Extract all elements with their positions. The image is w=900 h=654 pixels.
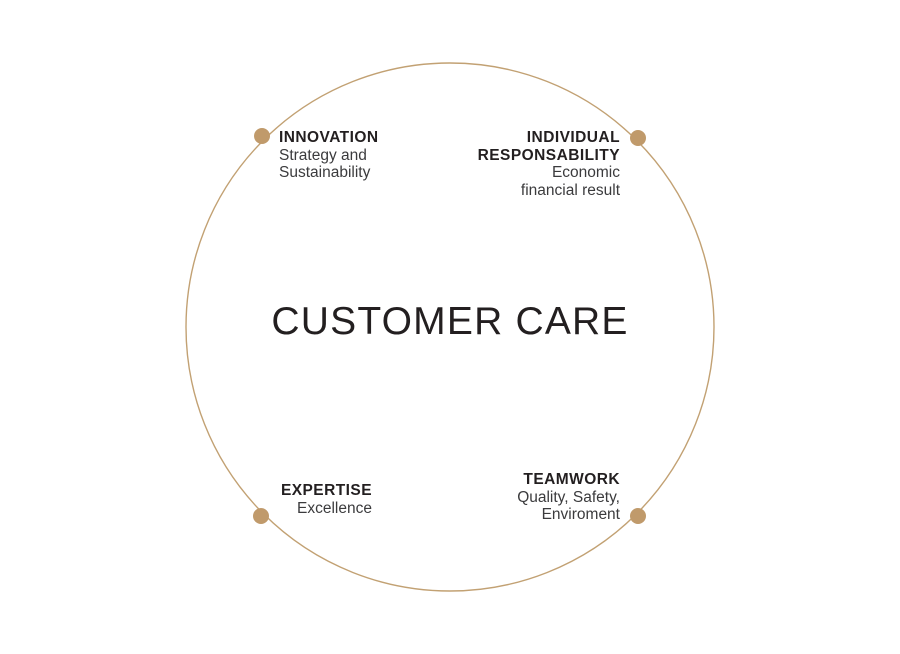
customer-care-diagram: CUSTOMER CARE INNOVATION Strategy and Su… [0, 0, 900, 654]
node-title-expertise: EXPERTISE [180, 482, 372, 500]
node-label-individual-responsability[interactable]: INDIVIDUAL RESPONSABILITY Economic finan… [380, 129, 620, 199]
node-title-teamwork: TEAMWORK [400, 471, 620, 489]
node-label-teamwork[interactable]: TEAMWORK Quality, Safety, Enviroment [400, 471, 620, 524]
node-subtitle-individual-responsability-line-2: financial result [380, 182, 620, 200]
node-dot-innovation[interactable] [254, 128, 270, 144]
center-title: CUSTOMER CARE [0, 297, 900, 347]
node-subtitle-teamwork-line-1: Quality, Safety, [400, 489, 620, 507]
node-dot-individual-responsability[interactable] [630, 130, 646, 146]
node-title-individual-responsability-line-1: INDIVIDUAL [380, 129, 620, 147]
node-dot-teamwork[interactable] [630, 508, 646, 524]
node-title-individual-responsability-line-2: RESPONSABILITY [380, 147, 620, 165]
node-subtitle-expertise-line-1: Excellence [180, 500, 372, 518]
node-label-expertise[interactable]: EXPERTISE Excellence [180, 482, 372, 517]
node-subtitle-individual-responsability-line-1: Economic [380, 164, 620, 182]
node-subtitle-teamwork-line-2: Enviroment [400, 506, 620, 524]
